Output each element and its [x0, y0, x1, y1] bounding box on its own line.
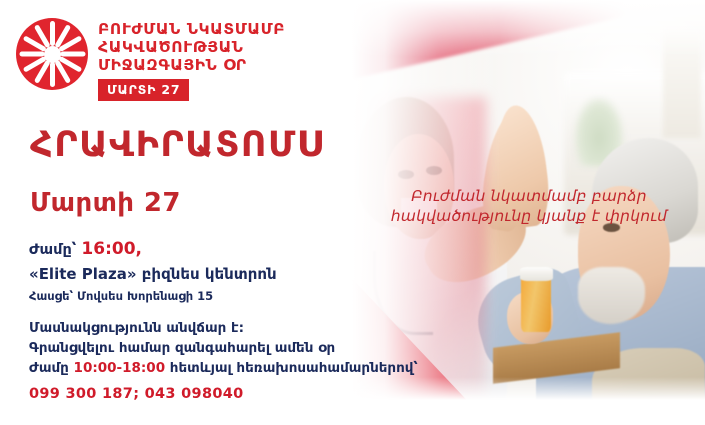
photo-bottom-fade — [352, 377, 705, 405]
logo-line-2: ՀԱԿՎԱԾՈՒԹՅԱՆ — [98, 38, 285, 56]
bottom-white-strip — [0, 405, 705, 425]
logo-hub — [44, 46, 61, 63]
event-time-value: 16:00, — [81, 239, 142, 259]
notice-line-3: Ժամը 10:00-18:00 հետևյալ հեռախոսահամարնե… — [29, 358, 418, 378]
logo-line-1: ԲՈՒԺՄԱՆ ՆԿԱՏՄԱՄԲ — [98, 20, 285, 38]
tagline: Բուժման նկատմամբ բարձր հակվածությունը կյ… — [358, 186, 700, 226]
logo-spoke — [50, 21, 55, 46]
logo-text: ԲՈՒԺՄԱՆ ՆԿԱՏՄԱՄԲ ՀԱԿՎԱԾՈՒԹՅԱՆ ՄԻՋԱԶԳԱՅԻՆ… — [98, 18, 285, 101]
logo-spoke — [19, 52, 44, 57]
event-date: Մարտի 27 — [30, 188, 181, 218]
call-hours-suffix: հետևյալ հեռախոսահամարներով՝ — [170, 360, 418, 376]
invitation-flyer: Բուժման նկատմամբ բարձր հակվածությունը կյ… — [0, 0, 705, 425]
contact-phone-numbers[interactable]: 099 300 187; 043 098040 — [29, 386, 244, 402]
notice-line-1: Մասնակցությունն անվճար է: — [29, 318, 418, 338]
photo-top-fade — [352, 0, 705, 57]
sun-wheel-icon — [16, 18, 88, 90]
pill-bottle-cap — [520, 267, 554, 281]
event-details: Ժամը՝ 16:00, «Elite Plaza» բիզնես կենտրո… — [29, 238, 277, 306]
logo-line-3: ՄԻՋԱԶԳԱՅԻՆ ՕՐ — [98, 56, 285, 74]
call-hours-label: Ժամը — [29, 360, 69, 376]
logo-block: ԲՈՒԺՄԱՆ ՆԿԱՏՄԱՄԲ ՀԱԿՎԱԾՈՒԹՅԱՆ ՄԻՋԱԶԳԱՅԻՆ… — [16, 18, 285, 101]
event-time-label: Ժամը՝ — [29, 242, 76, 258]
event-time-line: Ժամը՝ 16:00, — [29, 238, 277, 262]
tagline-line-1: Բուժման նկատմամբ բարձր — [358, 186, 700, 206]
logo-spoke — [60, 52, 85, 57]
logo-date-badge: ՄԱՐՏԻ 27 — [98, 79, 189, 101]
pill-bottle — [521, 275, 551, 332]
event-address: Հասցե՝ Մովսես Խորենացի 15 — [29, 286, 277, 306]
logo-spoke — [50, 62, 55, 87]
registration-notice: Մասնակցությունն անվճար է: Գրանցվելու համ… — [29, 318, 418, 378]
notice-line-2: Գրանցվելու համար զանգահարել ամեն օր — [29, 338, 418, 358]
event-venue: «Elite Plaza» բիզնես կենտրոն — [29, 262, 277, 286]
call-hours-value: 10:00-18:00 — [74, 360, 166, 376]
page-title: ՀՐԱՎԻՐԱՏՈՄՍ — [30, 126, 324, 164]
tagline-line-2: հակվածությունը կյանք է փրկում — [358, 206, 700, 226]
